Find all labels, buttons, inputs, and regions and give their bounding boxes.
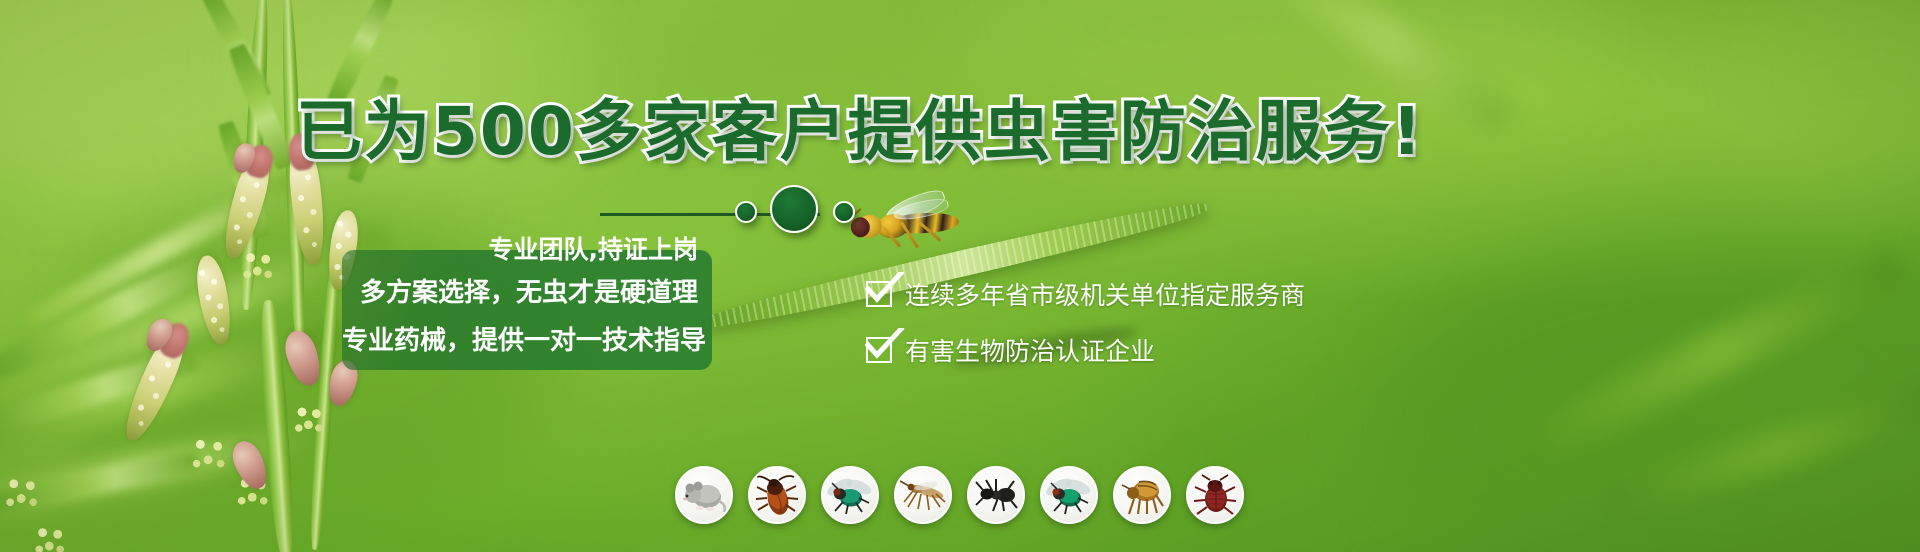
decorative-dot-small-right	[833, 201, 855, 223]
page-title: 已为500多家客户提供虫害防治服务!	[296, 78, 1424, 174]
feature-line-3: 专业药械，提供一对一技术指导	[342, 320, 698, 357]
headline-text: 已为500多家客户提供虫害防治服务!	[296, 93, 1424, 170]
bedbug-icon[interactable]	[1186, 466, 1244, 524]
cockroach-icon[interactable]	[748, 466, 806, 524]
housefly-icon[interactable]	[821, 466, 879, 524]
checkbox-checked-icon	[866, 337, 892, 363]
list-item: 有害生物防治认证企业	[866, 326, 1305, 374]
pest-type-icon-row	[675, 466, 1244, 524]
list-item: 连续多年省市级机关单位指定服务商	[866, 270, 1305, 318]
feature-line-1: 专业团队,持证上岗	[342, 230, 698, 266]
checkbox-checked-icon	[866, 281, 892, 307]
flea-icon[interactable]	[1113, 466, 1171, 524]
decorative-dot-large	[770, 185, 818, 233]
ant-icon[interactable]	[967, 466, 1025, 524]
feature-line-2: 多方案选择，无虫才是硬道理	[342, 272, 698, 309]
promo-banner: 已为500多家客户提供虫害防治服务! 专业团队,持证上岗 多方案选择，无虫才是硬…	[0, 0, 1920, 552]
decorative-dot-small-left	[735, 201, 757, 223]
feature-callout-box: 专业团队,持证上岗 多方案选择，无虫才是硬道理 专业药械，提供一对一技术指导	[342, 250, 712, 370]
checklist-label-1: 连续多年省市级机关单位指定服务商	[905, 276, 1305, 312]
greenbottle-fly-icon[interactable]	[1040, 466, 1098, 524]
checklist-label-2: 有害生物防治认证企业	[905, 332, 1155, 368]
credentials-checklist: 连续多年省市级机关单位指定服务商 有害生物防治认证企业	[866, 270, 1305, 374]
mouse-icon[interactable]	[675, 466, 733, 524]
mosquito-icon[interactable]	[894, 466, 952, 524]
